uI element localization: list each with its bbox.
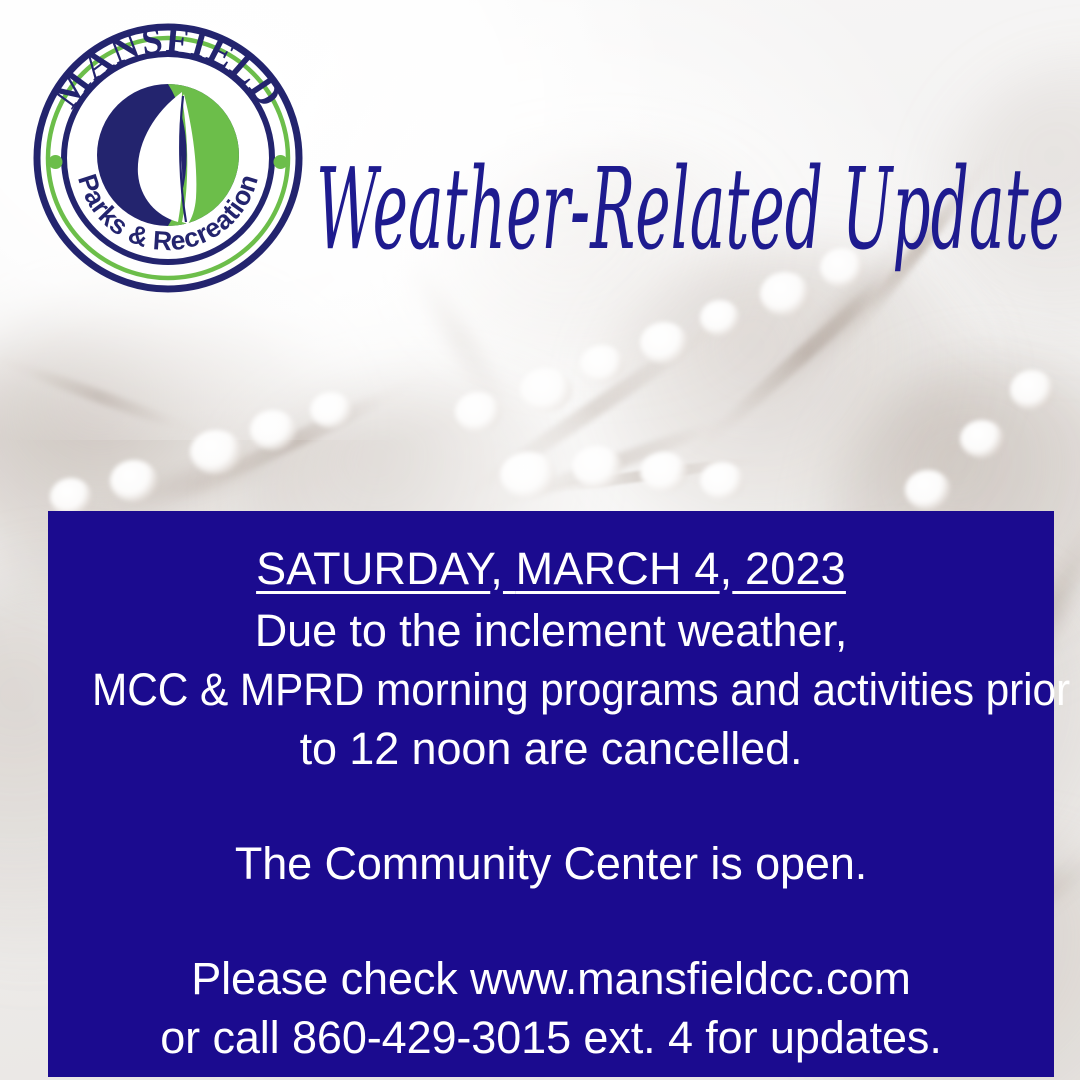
spacer xyxy=(62,893,1040,949)
date-separator-2: , xyxy=(720,543,733,594)
announcement-phone-line: or call 860-429-3015 ext. 4 for updates. xyxy=(62,1008,1040,1067)
date-year: 2023 xyxy=(745,543,846,594)
announcement-line-4: The Community Center is open. xyxy=(62,834,1040,893)
date-month-day: MARCH 4 xyxy=(516,543,720,594)
page-title: Weather-Related Update xyxy=(316,122,1068,294)
weather-update-poster: MANSFIELD Parks & Recreation Weather-Rel… xyxy=(0,0,1080,1080)
headline-text: Weather-Related Update xyxy=(316,145,1064,275)
date-weekday: SATURDAY xyxy=(256,543,490,594)
announcement-panel: SATURDAY, MARCH 4, 2023 Due to the incle… xyxy=(48,511,1054,1077)
mansfield-parks-recreation-logo: MANSFIELD Parks & Recreation xyxy=(32,22,304,294)
announcement-date: SATURDAY, MARCH 4, 2023 xyxy=(62,537,1040,601)
spacer xyxy=(62,778,1040,834)
announcement-line-2: MCC & MPRD morning programs and activiti… xyxy=(92,660,1070,719)
announcement-line-3: to 12 noon are cancelled. xyxy=(62,719,1040,778)
announcement-line-1: Due to the inclement weather, xyxy=(62,601,1040,660)
announcement-website-line: Please check www.mansfieldcc.com xyxy=(62,949,1040,1008)
date-separator-1: , xyxy=(490,543,503,594)
